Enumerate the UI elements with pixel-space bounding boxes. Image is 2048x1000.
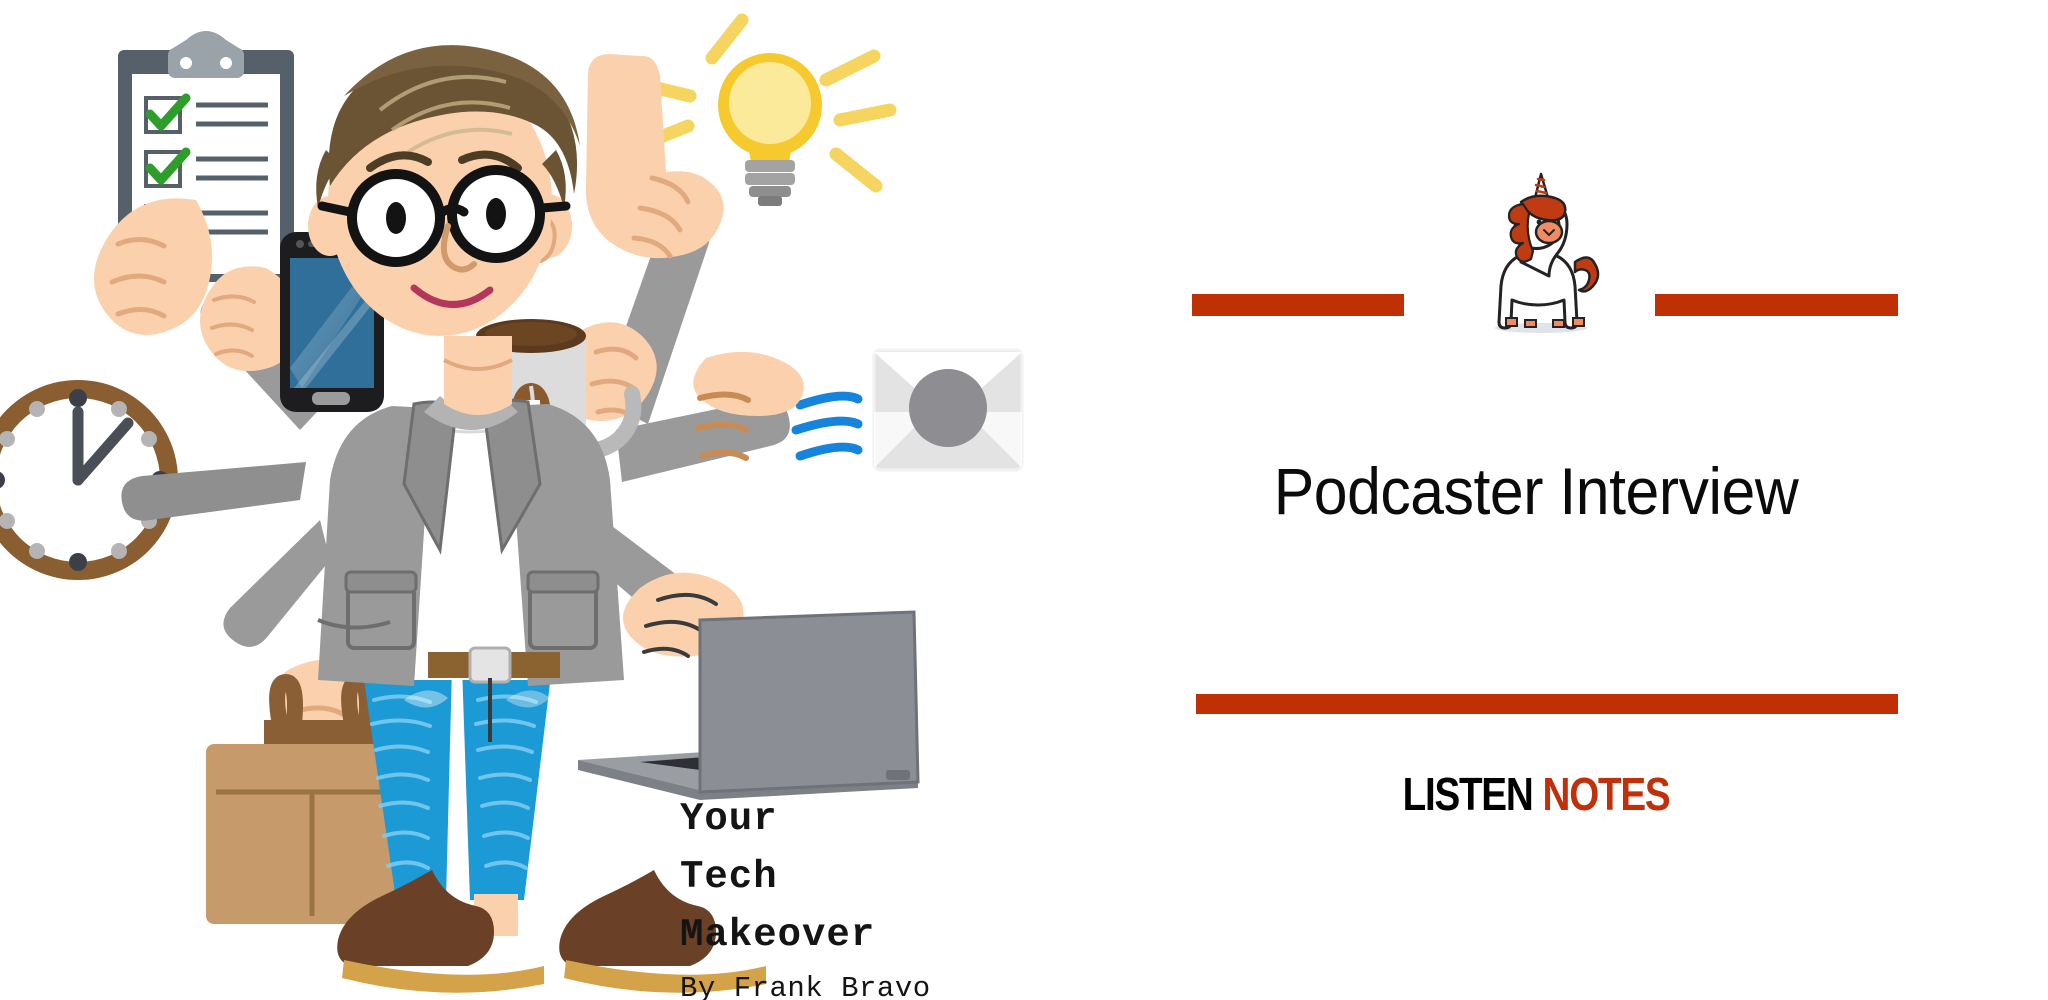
podcast-cover-art: Your Tech Makeover By Frank Bravo (0, 0, 1024, 1000)
brand-word-listen: LISTEN (1403, 768, 1533, 820)
listen-notes-wordmark: LISTENNOTES (1106, 768, 1966, 820)
listen-notes-unicorn-logo (1449, 170, 1629, 350)
cover-title-block: Your Tech Makeover By Frank Bravo (680, 790, 1010, 1000)
divider-bottom (1196, 694, 1898, 714)
cover-title-line-2: Tech (680, 848, 1010, 906)
unicorn-icon (1449, 170, 1629, 350)
listen-notes-panel: Podcaster Interview LISTENNOTES (1024, 0, 2048, 1000)
page-title: Podcaster Interview (1065, 452, 2007, 530)
cover-title-line-3: Makeover (680, 906, 1010, 964)
divider-top-right (1655, 294, 1898, 316)
envelope-icon (874, 350, 1022, 470)
neck (444, 336, 512, 415)
cover-title-line-1: Your (680, 790, 1010, 848)
divider-top-left (1192, 294, 1404, 316)
brand-word-notes: NOTES (1543, 768, 1670, 820)
cover-byline: By Frank Bravo (680, 968, 1010, 1000)
screenshot-canvas: Your Tech Makeover By Frank Bravo (0, 0, 2048, 1000)
